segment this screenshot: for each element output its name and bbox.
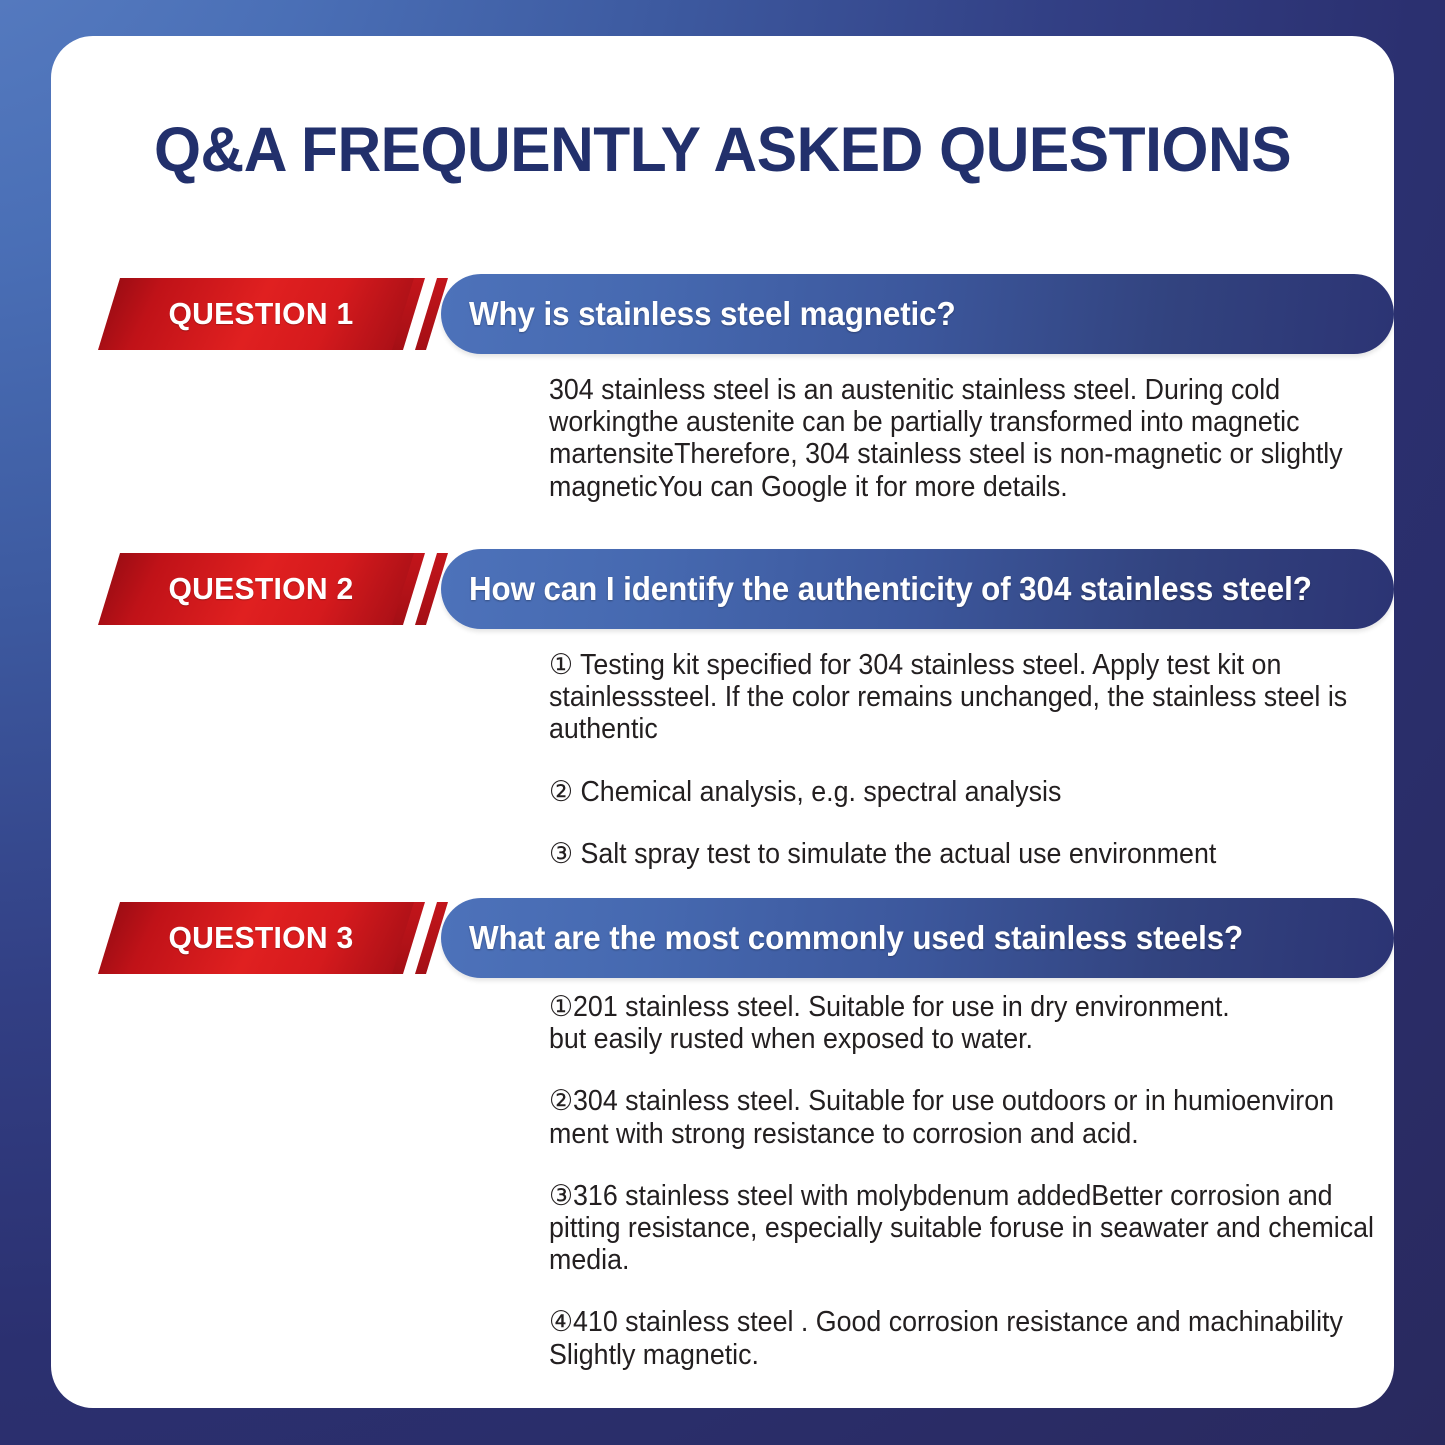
answer-paragraph: ② Chemical analysis, e.g. spectral analy… [549,776,1376,808]
answer-block-1: 304 stainless steel is an austenitic sta… [549,374,1376,503]
answer-paragraph: ③316 stainless steel with molybdenum add… [549,1180,1376,1277]
page-title: Q&A FREQUENTLY ASKED QUESTIONS [78,114,1367,186]
faq-header-row-2: QUESTION 2 How can I identify the authen… [51,549,1394,635]
faq-card: Q&A FREQUENTLY ASKED QUESTIONS QUESTION … [51,36,1394,1408]
faq-header-row-1: QUESTION 1 Why is stainless steel magnet… [51,274,1394,360]
answer-paragraph: 304 stainless steel is an austenitic sta… [549,374,1376,503]
answer-paragraph: ④410 stainless steel . Good corrosion re… [549,1306,1376,1370]
question-text-2: How can I identify the authenticity of 3… [469,549,1312,629]
question-pill-1[interactable]: Why is stainless steel magnetic? [441,274,1394,354]
faq-page: Q&A FREQUENTLY ASKED QUESTIONS QUESTION … [0,0,1445,1445]
question-label-3: QUESTION 3 [114,902,409,974]
answer-block-3: ①201 stainless steel. Suitable for use i… [549,991,1376,1371]
question-text-3: What are the most commonly used stainles… [469,898,1243,978]
answer-paragraph: ①201 stainless steel. Suitable for use i… [549,991,1376,1055]
question-label-1: QUESTION 1 [114,278,409,350]
question-pill-3[interactable]: What are the most commonly used stainles… [441,898,1394,978]
answer-paragraph: ① Testing kit specified for 304 stainles… [549,649,1376,746]
question-pill-2[interactable]: How can I identify the authenticity of 3… [441,549,1394,629]
answer-paragraph: ②304 stainless steel. Suitable for use o… [549,1085,1376,1149]
question-text-1: Why is stainless steel magnetic? [469,274,956,354]
answer-paragraph: ③ Salt spray test to simulate the actual… [549,838,1376,870]
question-label-2: QUESTION 2 [114,553,409,625]
answer-block-2: ① Testing kit specified for 304 stainles… [549,649,1376,870]
faq-header-row-3: QUESTION 3 What are the most commonly us… [51,898,1394,984]
